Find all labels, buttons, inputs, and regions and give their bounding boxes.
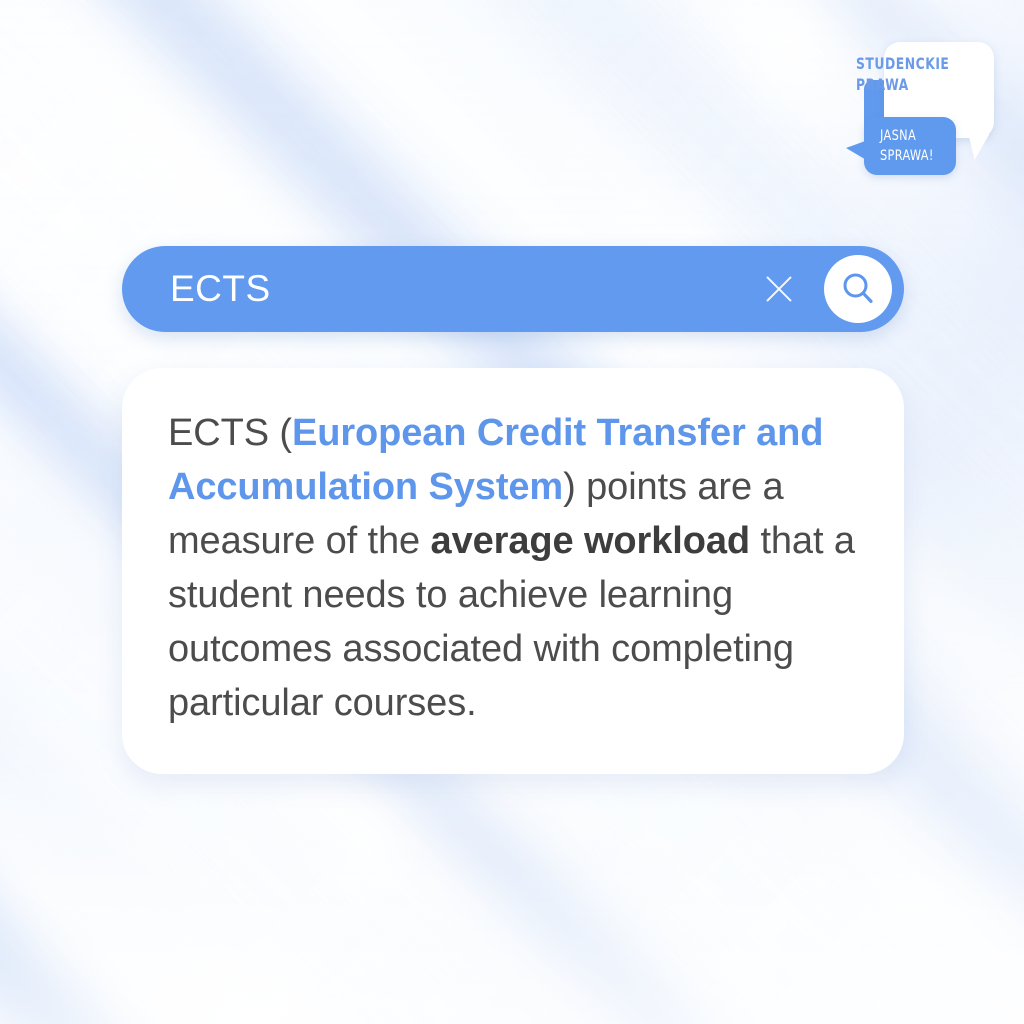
poster-canvas: STUDENCKIE PRAWA JASNA SPRAWA! ECTS ECTS…: [0, 0, 1024, 1024]
campaign-tagline-line-1: JASNA: [880, 126, 934, 146]
search-bar[interactable]: ECTS: [122, 246, 904, 332]
campaign-tagline-line-2: SPRAWA!: [880, 146, 934, 166]
campaign-title-line-1: STUDENCKIE: [856, 53, 975, 74]
definition-emphasis: average workload: [431, 520, 750, 562]
campaign-logo: STUDENCKIE PRAWA JASNA SPRAWA!: [842, 42, 1002, 192]
white-bubble-tail-icon: [966, 134, 990, 160]
blue-bubble-tail-icon: [846, 140, 868, 161]
campaign-title: STUDENCKIE PRAWA: [856, 53, 975, 95]
campaign-tagline: JASNA SPRAWA!: [880, 126, 934, 166]
search-button[interactable]: [824, 255, 892, 323]
definition-open-paren: (: [269, 412, 292, 454]
definition-term: ECTS: [168, 412, 269, 454]
campaign-title-line-2: PRAWA: [856, 74, 975, 95]
definition-text: ECTS (European Credit Transfer and Accum…: [168, 406, 874, 730]
definition-card: ECTS (European Credit Transfer and Accum…: [122, 368, 904, 774]
close-x-icon[interactable]: [762, 272, 796, 306]
search-input[interactable]: ECTS: [170, 268, 271, 310]
magnifier-icon: [838, 269, 878, 309]
footer: Parlament Studentów Rzeczypospolitej Pol…: [0, 914, 1024, 1024]
